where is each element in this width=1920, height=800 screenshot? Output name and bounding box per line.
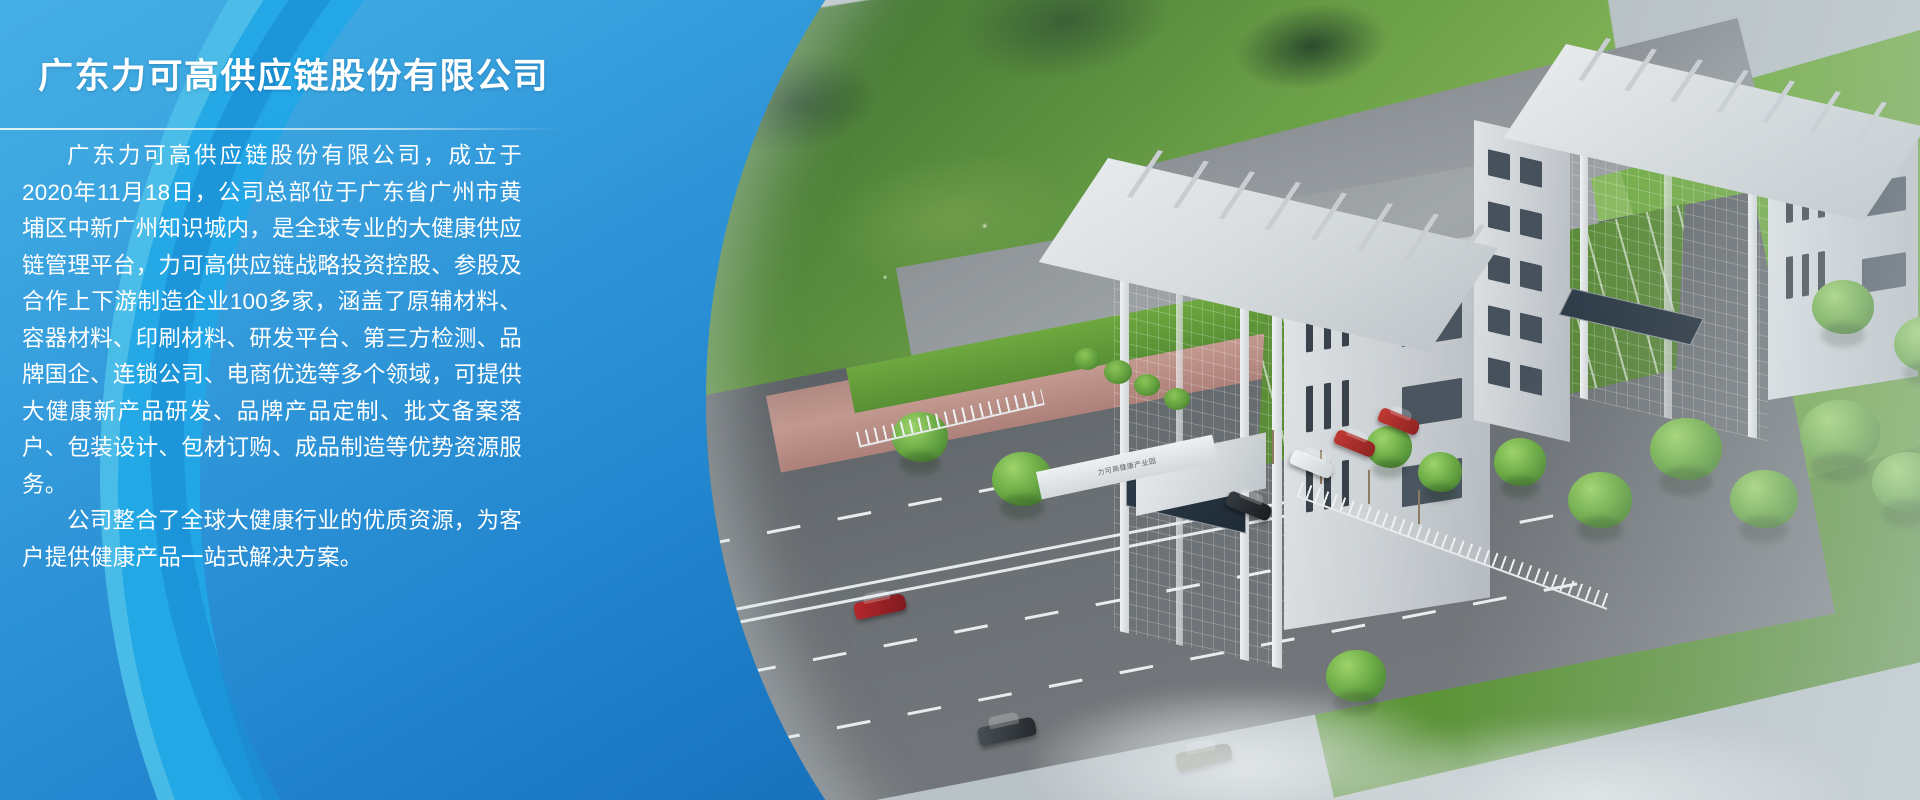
building-photo: 力可高健康产业园 bbox=[706, 0, 1920, 800]
company-description: 广东力可高供应链股份有限公司，成立于2020年11月18日，公司总部位于广东省广… bbox=[22, 138, 522, 576]
title-divider bbox=[0, 128, 560, 130]
building-photo-circle: 力可高健康产业园 bbox=[706, 0, 1920, 800]
page-title: 广东力可高供应链股份有限公司 bbox=[38, 56, 549, 98]
banner-stage: 力可高健康产业园 bbox=[0, 0, 1920, 800]
photo-atmosphere-haze bbox=[706, 0, 1920, 800]
description-paragraph-1: 广东力可高供应链股份有限公司，成立于2020年11月18日，公司总部位于广东省广… bbox=[22, 138, 522, 503]
text-panel: 广东力可高供应链股份有限公司 广东力可高供应链股份有限公司，成立于2020年11… bbox=[0, 0, 560, 800]
description-paragraph-2: 公司整合了全球大健康行业的优质资源，为客户提供健康产品一站式解决方案。 bbox=[22, 503, 522, 576]
